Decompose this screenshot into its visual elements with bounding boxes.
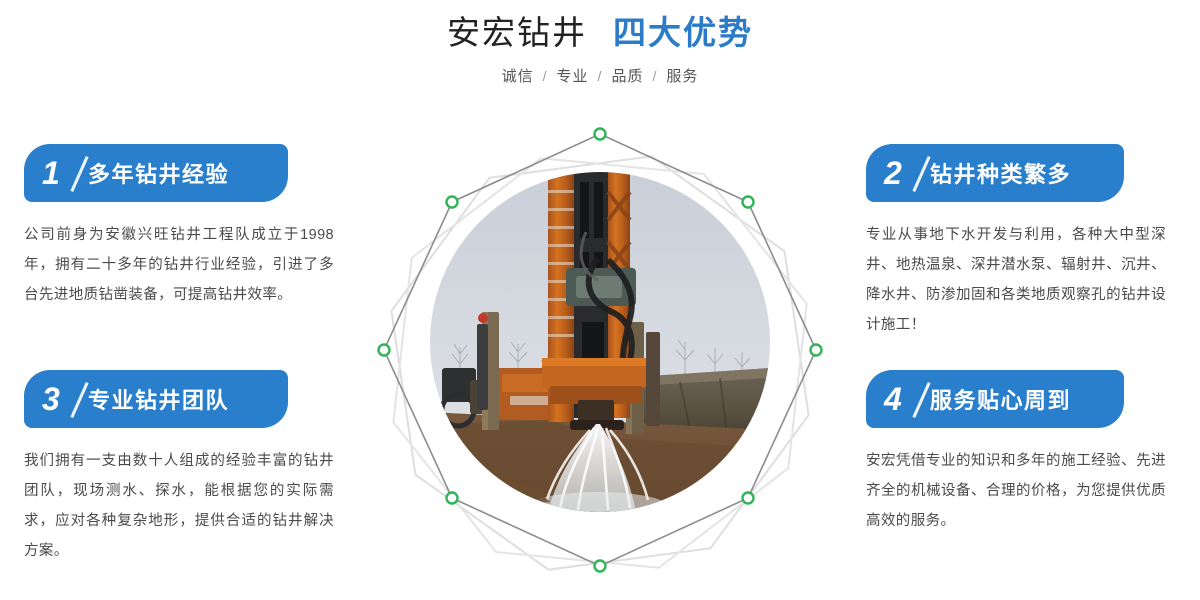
number-badge-icon-4: 4 [880, 376, 926, 422]
card-title-2: 钻井种类繁多 [930, 157, 1071, 189]
badge-number-1: 1 [42, 151, 60, 195]
badge-slash-icon-3 [70, 382, 88, 418]
subtitle: 诚信 / 专业 / 品质 / 服务 [0, 65, 1200, 86]
number-badge-icon-2: 2 [880, 150, 926, 196]
badge-number-4: 4 [884, 377, 902, 421]
card-title-4: 服务贴心周到 [930, 383, 1071, 415]
promo-page: 安宏钻井 四大优势 诚信 / 专业 / 品质 / 服务 1 多年钻井经验 公司前… [0, 0, 1200, 600]
card-body-1: 公司前身为安徽兴旺钻井工程队成立于1998年，拥有二十多年的钻井行业经验，引进了… [24, 220, 334, 310]
badge-slash-icon-2 [912, 156, 930, 192]
card-title-1: 多年钻井经验 [88, 157, 229, 189]
card-banner-4: 4 服务贴心周到 [866, 370, 1124, 428]
vertex-dot-icon [379, 345, 390, 356]
page-header: 安宏钻井 四大优势 诚信 / 专业 / 品质 / 服务 [0, 0, 1200, 86]
subtitle-item-1: 专业 [557, 65, 589, 86]
page-title: 安宏钻井 四大优势 [0, 12, 1200, 53]
advantage-card-3: 3 专业钻井团队 我们拥有一支由数十人组成的经验丰富的钻井团队，现场测水、探水，… [24, 370, 334, 566]
advantage-card-4: 4 服务贴心周到 安宏凭借专业的知识和多年的施工经验、先进齐全的机械设备、合理的… [866, 370, 1176, 536]
number-badge-icon-1: 1 [38, 150, 84, 196]
number-badge-icon-3: 3 [38, 376, 84, 422]
card-body-2: 专业从事地下水开发与利用，各种大中型深井、地热温泉、深井潜水泵、辐射井、沉井、降… [866, 220, 1166, 340]
subtitle-separator-1: / [598, 68, 603, 84]
subtitle-separator-0: / [543, 68, 548, 84]
drilling-rig-photo [430, 172, 770, 512]
card-banner-1: 1 多年钻井经验 [24, 144, 288, 202]
subtitle-item-2: 品质 [611, 65, 643, 86]
card-title-3: 专业钻井团队 [88, 383, 229, 415]
subtitle-item-3: 服务 [666, 65, 698, 86]
subtitle-item-0: 诚信 [502, 65, 534, 86]
badge-slash-icon-1 [70, 156, 88, 192]
title-highlight: 四大优势 [613, 12, 753, 53]
card-banner-2: 2 钻井种类繁多 [866, 144, 1124, 202]
advantage-card-1: 1 多年钻井经验 公司前身为安徽兴旺钻井工程队成立于1998年，拥有二十多年的钻… [24, 144, 334, 310]
badge-number-2: 2 [884, 151, 902, 195]
subtitle-separator-2: / [652, 68, 657, 84]
center-artwork [370, 110, 830, 580]
card-body-4: 安宏凭借专业的知识和多年的施工经验、先进齐全的机械设备、合理的价格，为您提供优质… [866, 446, 1166, 536]
badge-number-3: 3 [42, 377, 60, 421]
badge-slash-icon-4 [912, 382, 930, 418]
advantage-card-2: 2 钻井种类繁多 专业从事地下水开发与利用，各种大中型深井、地热温泉、深井潜水泵… [866, 144, 1176, 340]
vertex-dot-icon [811, 345, 822, 356]
vertex-dot-icon [595, 129, 606, 140]
card-body-3: 我们拥有一支由数十人组成的经验丰富的钻井团队，现场测水、探水，能根据您的实际需求… [24, 446, 334, 566]
card-banner-3: 3 专业钻井团队 [24, 370, 288, 428]
title-company: 安宏钻井 [447, 12, 587, 53]
vertex-dot-icon [595, 561, 606, 572]
